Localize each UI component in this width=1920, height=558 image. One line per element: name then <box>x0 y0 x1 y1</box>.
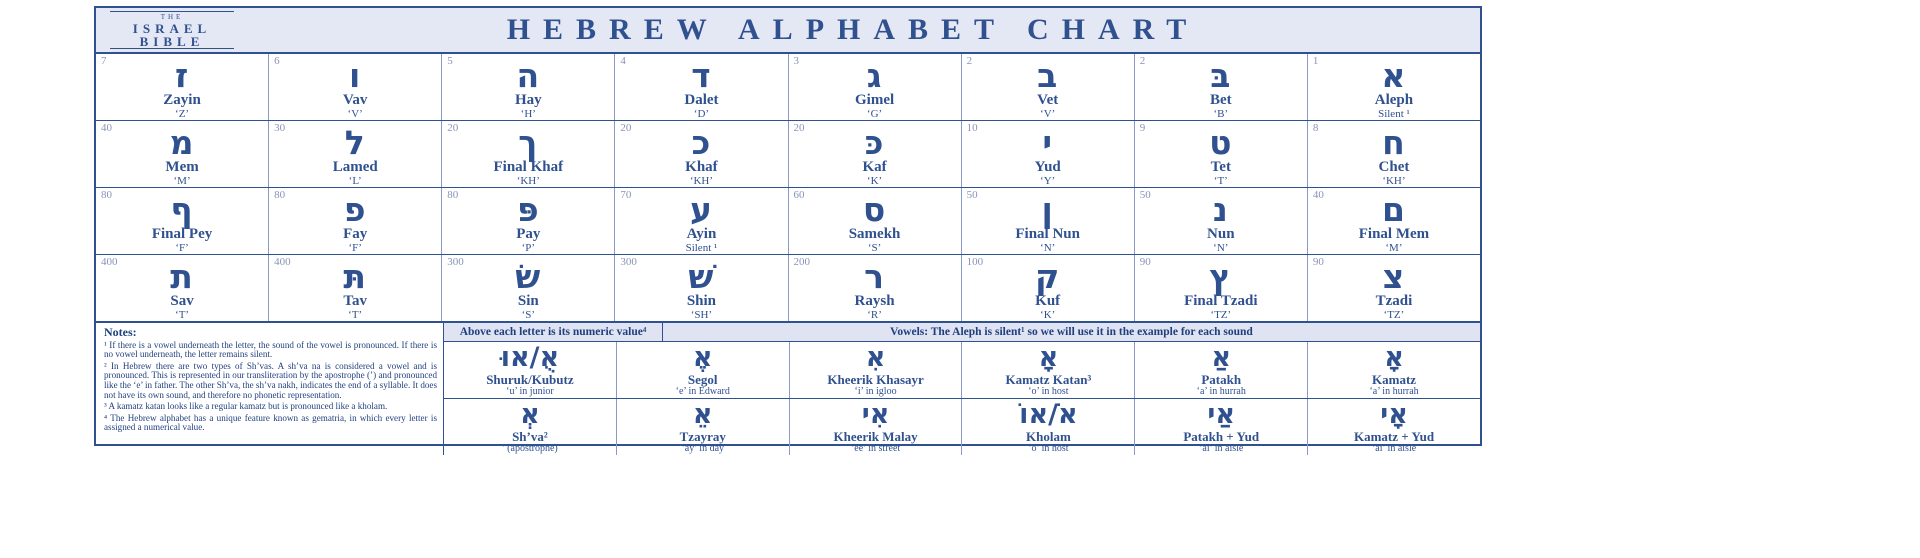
hebrew-letter-glyph: ד <box>691 57 711 94</box>
vowel-cell-kholam[interactable]: אֹ/אוֹKholam‘o’ in host <box>961 399 1134 455</box>
vowel-example: ‘u’ in junior <box>506 386 554 397</box>
numeric-value: 80 <box>101 189 112 201</box>
letter-transliteration: ‘F’ <box>348 242 361 254</box>
hebrew-letter-glyph: ג <box>867 57 883 94</box>
numeric-value: 2 <box>967 55 973 67</box>
numeric-value: 40 <box>1313 189 1324 201</box>
note-item: ¹ If there is a vowel underneath the let… <box>104 341 437 361</box>
vowel-name: Kheerik Malay <box>834 430 918 443</box>
letter-transliteration: ‘KH’ <box>690 175 713 187</box>
vowel-name: Shuruk/Kubutz <box>486 373 573 386</box>
hebrew-letter-glyph: נ <box>1213 191 1229 228</box>
hebrew-letter-glyph: ר <box>864 258 885 295</box>
letter-name: Bet <box>1210 93 1232 108</box>
vowel-cell-shuruk-kubutz[interactable]: אֻ/אוּShuruk/Kubutz‘u’ in junior <box>444 342 616 398</box>
letter-name: Tzadi <box>1376 294 1413 309</box>
vowel-row: אֻ/אוּShuruk/Kubutz‘u’ in juniorאֶSegol‘… <box>444 342 1480 399</box>
letter-name: Kaf <box>862 160 886 175</box>
letter-transliteration: ‘SH’ <box>691 309 712 321</box>
hebrew-letter-glyph: צ <box>1383 258 1406 295</box>
hebrew-letter-glyph: ס <box>863 191 886 228</box>
letter-name: Kuf <box>1035 294 1060 309</box>
numeric-value: 200 <box>794 256 811 268</box>
hebrew-letter-glyph: ל <box>345 124 366 161</box>
numeric-value: 30 <box>274 122 285 134</box>
vowel-glyph: אָי <box>1380 400 1408 430</box>
letter-cell-raysh[interactable]: 200רRaysh‘R’ <box>788 255 961 321</box>
letter-transliteration: ‘M’ <box>1385 242 1402 254</box>
letter-transliteration: ‘K’ <box>1040 309 1055 321</box>
vowel-example: ‘i’ in igloo <box>855 386 897 397</box>
numeric-value: 70 <box>620 189 631 201</box>
letter-transliteration: ‘T’ <box>348 309 362 321</box>
numeric-value: 2 <box>1140 55 1146 67</box>
numeric-value: 7 <box>101 55 107 67</box>
letter-name: Tav <box>343 294 367 309</box>
letter-cell-nun[interactable]: 50נNun‘N’ <box>1134 188 1307 254</box>
letter-transliteration: ‘V’ <box>348 108 363 120</box>
letter-cell-shin[interactable]: 300שׁShin‘SH’ <box>614 255 787 321</box>
letter-cell-lamed[interactable]: 30לLamed‘L’ <box>268 121 441 187</box>
letter-grid: 7זZayin‘Z’6וVav‘V’5הHay‘H’4דDalet‘D’3גGi… <box>96 54 1480 323</box>
hebrew-letter-glyph: תּ <box>343 258 367 295</box>
vowel-cell-patakh-yud[interactable]: אַיPatakh + Yud‘ai’ in aisle <box>1134 399 1307 455</box>
numeric-value: 8 <box>1313 122 1319 134</box>
letter-name: Gimel <box>855 93 894 108</box>
vowel-example: ‘e’ in Edward <box>676 386 730 397</box>
vowel-cell-segol[interactable]: אֶSegol‘e’ in Edward <box>616 342 789 398</box>
letter-cell-tzadi[interactable]: 90צTzadi‘TZ’ <box>1307 255 1480 321</box>
letter-row: 40מMem‘M’30לLamed‘L’20ךFinal Khaf‘KH’20כ… <box>96 121 1480 188</box>
hebrew-letter-glyph: פּ <box>517 191 540 228</box>
vowel-name: Tzayray <box>680 430 726 443</box>
numeric-value: 6 <box>274 55 280 67</box>
letter-cell-final-mem[interactable]: 40םFinal Mem‘M’ <box>1307 188 1480 254</box>
hebrew-letter-glyph: ץ <box>1209 258 1232 295</box>
hebrew-letter-glyph: בּ <box>1210 57 1231 94</box>
numeric-value: 1 <box>1313 55 1319 67</box>
numeric-value: 9 <box>1140 122 1146 134</box>
letter-transliteration: ‘T’ <box>1214 175 1228 187</box>
letter-cell-kaf[interactable]: 20כּKaf‘K’ <box>788 121 961 187</box>
notes-panel: Notes: ¹ If there is a vowel underneath … <box>96 323 444 455</box>
hebrew-letter-glyph: ט <box>1209 124 1232 161</box>
numeric-value-banner: Above each letter is its numeric value⁴ <box>444 323 663 341</box>
letter-cell-aleph[interactable]: 1אAlephSilent ¹ <box>1307 54 1480 120</box>
letter-transliteration: ‘H’ <box>521 108 536 120</box>
letter-cell-khaf[interactable]: 20כKhaf‘KH’ <box>614 121 787 187</box>
numeric-value: 3 <box>794 55 800 67</box>
hebrew-letter-glyph: שׁ <box>688 258 714 295</box>
hebrew-letter-glyph: פ <box>344 191 367 228</box>
hebrew-letter-glyph: מ <box>170 124 195 161</box>
hebrew-alphabet-chart: THE ISRAEL BIBLE HEBREW ALPHABET CHART 7… <box>94 6 1482 446</box>
letter-cell-dalet[interactable]: 4דDalet‘D’ <box>614 54 787 120</box>
vowel-name: Patakh + Yud <box>1183 430 1259 443</box>
hebrew-letter-glyph: ם <box>1382 191 1406 228</box>
letter-row: 400תSav‘T’400תּTav‘T’300שׂSin‘S’300שׁShi… <box>96 255 1480 323</box>
notes-list: ¹ If there is a vowel underneath the let… <box>104 341 437 434</box>
vowel-cell-patakh[interactable]: אַPatakh‘a’ in hurrah <box>1134 342 1307 398</box>
letter-transliteration: ‘S’ <box>522 309 535 321</box>
letter-name: Final Pey <box>152 227 212 242</box>
vowel-glyph: אְ <box>520 400 540 430</box>
vowel-name: Kamatz Katan³ <box>1005 373 1091 386</box>
letter-cell-final-nun[interactable]: 50ןFinal Nun‘N’ <box>961 188 1134 254</box>
hebrew-letter-glyph: כ <box>692 124 712 161</box>
numeric-value: 100 <box>967 256 984 268</box>
hebrew-letter-glyph: ק <box>1035 258 1060 295</box>
chart-header: THE ISRAEL BIBLE HEBREW ALPHABET CHART <box>96 8 1480 54</box>
letter-name: Final Mem <box>1359 227 1429 242</box>
vowel-grid: אֻ/אוּShuruk/Kubutz‘u’ in juniorאֶSegol‘… <box>444 342 1480 455</box>
letter-name: Vet <box>1037 93 1058 108</box>
hebrew-letter-glyph: ת <box>170 258 194 295</box>
numeric-value: 60 <box>794 189 805 201</box>
vowel-cell-kheerik-khasayr[interactable]: אִKheerik Khasayr‘i’ in igloo <box>789 342 962 398</box>
vowel-name: Kheerik Khasayr <box>827 373 923 386</box>
letter-cell-pay[interactable]: 80פּPay‘P’ <box>441 188 614 254</box>
letter-transliteration: ‘N’ <box>1040 242 1055 254</box>
vowel-glyph: אָ <box>1384 343 1404 373</box>
numeric-value: 10 <box>967 122 978 134</box>
letter-row: 7זZayin‘Z’6וVav‘V’5הHay‘H’4דDalet‘D’3גGi… <box>96 54 1480 121</box>
vowel-row: אְSh’va²’ (apostrophe)אֵTzayray‘ay’ in d… <box>444 399 1480 455</box>
letter-cell-final-pey[interactable]: 80ףFinal Pey‘F’ <box>96 188 268 254</box>
vowel-cell-kheerik-malay[interactable]: אִיKheerik Malay‘ee’ in street <box>789 399 962 455</box>
vowel-glyph: אֻ/אוּ <box>501 343 559 373</box>
numeric-value: 50 <box>1140 189 1151 201</box>
logo-bottom-rule <box>110 48 234 49</box>
letter-name: Pay <box>516 227 540 242</box>
letter-transliteration: ‘TZ’ <box>1384 309 1405 321</box>
numeric-value: 400 <box>101 256 118 268</box>
vowel-cell-kamatz-yud[interactable]: אָיKamatz + Yud‘ai’ in aisle <box>1307 399 1480 455</box>
vowel-cell-sh-va[interactable]: אְSh’va²’ (apostrophe) <box>444 399 616 455</box>
numeric-value: 4 <box>620 55 626 67</box>
letter-transliteration: ‘D’ <box>694 108 709 120</box>
vowels-banner-row: Above each letter is its numeric value⁴ … <box>444 323 1480 342</box>
letter-name: Aleph <box>1375 93 1413 108</box>
letter-name: Final Khaf <box>494 160 564 175</box>
vowel-name: Kamatz + Yud <box>1354 430 1434 443</box>
hebrew-letter-glyph: ף <box>170 191 193 228</box>
vowel-example: ‘a’ in hurrah <box>1369 386 1418 397</box>
letter-name: Zayin <box>163 93 201 108</box>
letter-transliteration: ‘G’ <box>867 108 882 120</box>
vowel-cell-kamatz-katan[interactable]: אָKamatz Katan³‘o’ in host <box>961 342 1134 398</box>
letter-cell-hay[interactable]: 5הHay‘H’ <box>441 54 614 120</box>
note-item: ⁴ The Hebrew alphabet has a unique featu… <box>104 414 437 434</box>
bottom-section: Notes: ¹ If there is a vowel underneath … <box>96 323 1480 455</box>
letter-transliteration: ‘B’ <box>1213 108 1228 120</box>
numeric-value: 20 <box>447 122 458 134</box>
numeric-value: 300 <box>447 256 464 268</box>
vowel-glyph: אֶ <box>693 343 713 373</box>
vowel-name: Kholam <box>1026 430 1071 443</box>
vowel-glyph: אֹ/אוֹ <box>1019 400 1077 430</box>
vowel-glyph: אָ <box>1039 343 1059 373</box>
letter-name: Yud <box>1035 160 1061 175</box>
letter-name: Final Tzadi <box>1184 294 1258 309</box>
letter-cell-vav[interactable]: 6וVav‘V’ <box>268 54 441 120</box>
letter-cell-gimel[interactable]: 3גGimel‘G’ <box>788 54 961 120</box>
vowel-example: ‘ee’ in street <box>851 443 900 454</box>
numeric-value: 90 <box>1313 256 1324 268</box>
numeric-value: 50 <box>967 189 978 201</box>
numeric-value: 80 <box>274 189 285 201</box>
hebrew-letter-glyph: ו <box>349 57 361 94</box>
letter-transliteration: ‘Z’ <box>175 108 189 120</box>
letter-transliteration: ‘V’ <box>1040 108 1055 120</box>
letter-cell-fay[interactable]: 80פFay‘F’ <box>268 188 441 254</box>
letter-name: Final Nun <box>1015 227 1080 242</box>
israel-bible-logo: THE ISRAEL BIBLE <box>96 11 248 49</box>
vowels-panel: Above each letter is its numeric value⁴ … <box>444 323 1480 455</box>
letter-cell-yud[interactable]: 10יYud‘Y’ <box>961 121 1134 187</box>
logo-bible: BIBLE <box>140 35 205 48</box>
letter-cell-sav[interactable]: 400תSav‘T’ <box>96 255 268 321</box>
vowel-example: ‘ay’ in day <box>681 443 724 454</box>
numeric-value: 80 <box>447 189 458 201</box>
vowel-example: ’ (apostrophe) <box>502 443 558 454</box>
logo-top-rule <box>110 11 234 12</box>
letter-cell-kuf[interactable]: 100קKuf‘K’ <box>961 255 1134 321</box>
vowel-name: Patakh <box>1201 373 1241 386</box>
letter-name: Fay <box>343 227 367 242</box>
letter-name: Lamed <box>333 160 378 175</box>
letter-transliteration: ‘T’ <box>175 309 189 321</box>
letter-transliteration: ‘Y’ <box>1040 175 1055 187</box>
notes-heading: Notes: <box>104 325 437 339</box>
vowel-example: ‘ai’ in aisle <box>1372 443 1416 454</box>
letter-cell-samekh[interactable]: 60סSamekh‘S’ <box>788 188 961 254</box>
letter-transliteration: ‘KH’ <box>517 175 540 187</box>
vowel-cell-kamatz[interactable]: אָKamatz‘a’ in hurrah <box>1307 342 1480 398</box>
vowel-example: ‘o’ in host <box>1028 443 1068 454</box>
letter-name: Ayin <box>687 227 717 242</box>
letter-cell-final-khaf[interactable]: 20ךFinal Khaf‘KH’ <box>441 121 614 187</box>
vowel-example: ‘ai’ in aisle <box>1199 443 1243 454</box>
letter-name: Hay <box>515 93 542 108</box>
letter-name: Tet <box>1211 160 1231 175</box>
letter-transliteration: ‘L’ <box>349 175 362 187</box>
vowel-example: ‘o’ in host <box>1028 386 1068 397</box>
letter-cell-bet[interactable]: 2בּBet‘B’ <box>1134 54 1307 120</box>
letter-transliteration: ‘F’ <box>175 242 188 254</box>
vowel-glyph: אַ <box>1211 343 1231 373</box>
letter-name: Nun <box>1207 227 1235 242</box>
letter-cell-tet[interactable]: 9טTet‘T’ <box>1134 121 1307 187</box>
letter-transliteration: Silent ¹ <box>686 242 718 254</box>
letter-transliteration: ‘K’ <box>867 175 882 187</box>
letter-name: Raysh <box>855 294 895 309</box>
letter-cell-mem[interactable]: 40מMem‘M’ <box>96 121 268 187</box>
numeric-value: 90 <box>1140 256 1151 268</box>
hebrew-letter-glyph: ב <box>1037 57 1058 94</box>
numeric-value: 5 <box>447 55 453 67</box>
vowel-name: Sh’va² <box>512 430 548 443</box>
letter-name: Chet <box>1379 160 1410 175</box>
note-item: ² In Hebrew there are two types of Sh’va… <box>104 362 437 401</box>
numeric-value: 20 <box>620 122 631 134</box>
letter-transliteration: Silent ¹ <box>1378 108 1410 120</box>
letter-name: Dalet <box>684 93 718 108</box>
letter-cell-tav[interactable]: 400תּTav‘T’ <box>268 255 441 321</box>
letter-name: Samekh <box>849 227 901 242</box>
vowel-glyph: אַי <box>1207 400 1235 430</box>
letter-transliteration: ‘N’ <box>1213 242 1228 254</box>
letter-transliteration: ‘KH’ <box>1382 175 1405 187</box>
vowel-glyph: אֵ <box>693 400 713 430</box>
letter-row: 80ףFinal Pey‘F’80פFay‘F’80פּPay‘P’70עAyi… <box>96 188 1480 255</box>
vowel-name: Kamatz <box>1372 373 1416 386</box>
hebrew-letter-glyph: ח <box>1382 124 1406 161</box>
letter-name: Mem <box>165 160 198 175</box>
vowel-cell-tzayray[interactable]: אֵTzayray‘ay’ in day <box>616 399 789 455</box>
numeric-value: 40 <box>101 122 112 134</box>
hebrew-letter-glyph: שׂ <box>515 258 541 295</box>
letter-cell-zayin[interactable]: 7זZayin‘Z’ <box>96 54 268 120</box>
letter-transliteration: ‘P’ <box>522 242 535 254</box>
letter-transliteration: ‘R’ <box>867 309 882 321</box>
hebrew-letter-glyph: ז <box>175 57 189 94</box>
hebrew-letter-glyph: ן <box>1042 191 1054 228</box>
page-title: HEBREW ALPHABET CHART <box>248 13 1480 47</box>
hebrew-letter-glyph: ע <box>690 191 713 228</box>
letter-name: Sin <box>518 294 539 309</box>
letter-cell-sin[interactable]: 300שׂSin‘S’ <box>441 255 614 321</box>
letter-name: Vav <box>343 93 367 108</box>
hebrew-letter-glyph: ך <box>518 124 538 161</box>
vowel-glyph: אִי <box>862 400 890 430</box>
numeric-value: 300 <box>620 256 637 268</box>
letter-transliteration: ‘M’ <box>174 175 191 187</box>
vowel-name: Segol <box>688 373 718 386</box>
vowel-example: ‘a’ in hurrah <box>1197 386 1246 397</box>
hebrew-letter-glyph: י <box>1042 124 1053 161</box>
hebrew-letter-glyph: ה <box>516 57 540 94</box>
letter-name: Khaf <box>685 160 718 175</box>
hebrew-letter-glyph: כּ <box>865 124 885 161</box>
vowels-banner: Vowels: The Aleph is silent¹ so we will … <box>663 323 1480 341</box>
numeric-value: 400 <box>274 256 291 268</box>
letter-transliteration: ‘S’ <box>868 242 881 254</box>
note-item: ³ A kamatz katan looks like a regular ka… <box>104 402 437 412</box>
vowel-glyph: אִ <box>866 343 886 373</box>
letter-cell-vet[interactable]: 2בVet‘V’ <box>961 54 1134 120</box>
hebrew-letter-glyph: א <box>1381 57 1406 94</box>
letter-cell-final-tzadi[interactable]: 90ץFinal Tzadi‘TZ’ <box>1134 255 1307 321</box>
letter-transliteration: ‘TZ’ <box>1210 309 1231 321</box>
letter-cell-ayin[interactable]: 70עAyinSilent ¹ <box>614 188 787 254</box>
letter-name: Sav <box>170 294 193 309</box>
letter-cell-chet[interactable]: 8חChet‘KH’ <box>1307 121 1480 187</box>
numeric-value: 20 <box>794 122 805 134</box>
letter-name: Shin <box>687 294 716 309</box>
